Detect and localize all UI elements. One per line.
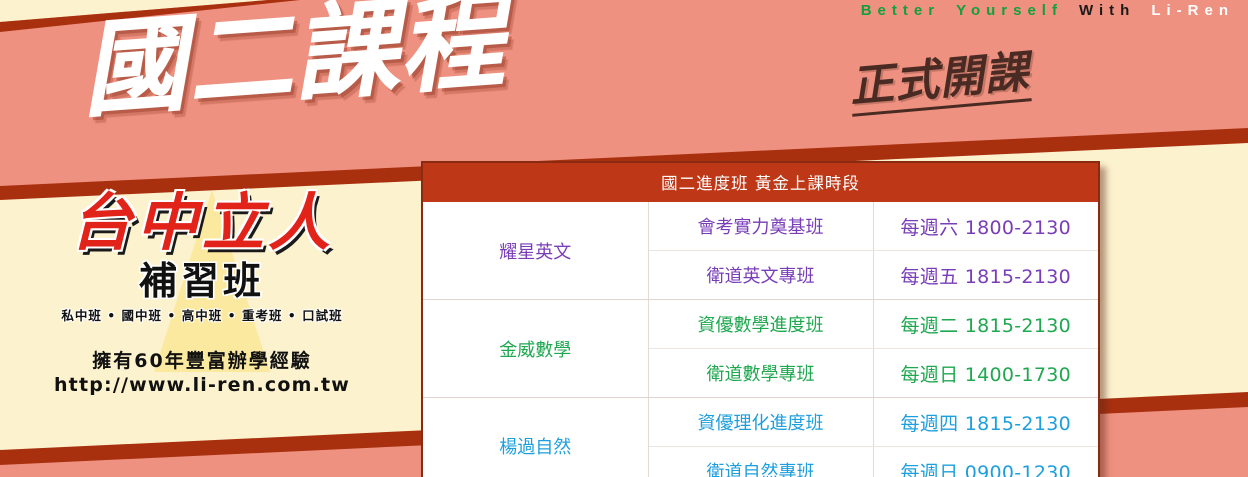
course-name-cell: 會考實力奠基班 xyxy=(648,202,873,251)
schedule-header-row: 國二進度班 黃金上課時段 xyxy=(423,163,1098,202)
table-row: 耀星英文會考實力奠基班每週六 1800-2130 xyxy=(423,202,1098,251)
class-time-cell: 每週日 0900-1230 xyxy=(873,447,1098,477)
logo-website-url[interactable]: http://www.li-ren.com.tw xyxy=(22,374,382,396)
table-row: 金威數學資優數學進度班每週二 1815-2130 xyxy=(423,300,1098,349)
subject-cell: 耀星英文 xyxy=(423,202,648,300)
subject-cell: 楊過自然 xyxy=(423,398,648,477)
schedule-header-title: 國二進度班 黃金上課時段 xyxy=(423,163,1098,202)
course-name-cell: 資優理化進度班 xyxy=(648,398,873,447)
course-name-cell: 資優數學進度班 xyxy=(648,300,873,349)
class-time-cell: 每週日 1400-1730 xyxy=(873,349,1098,398)
class-time-cell: 每週四 1815-2130 xyxy=(873,398,1098,447)
schedule-table: 國二進度班 黃金上課時段 耀星英文會考實力奠基班每週六 1800-2130衛道英… xyxy=(423,163,1098,477)
course-name-cell: 衛道英文專班 xyxy=(648,251,873,300)
course-name-cell: 衛道數學專班 xyxy=(648,349,873,398)
table-row: 楊過自然資優理化進度班每週四 1815-2130 xyxy=(423,398,1098,447)
subject-cell: 金威數學 xyxy=(423,300,648,398)
subheadline-block: 正式開課 xyxy=(848,50,1032,116)
slogan-word-3: With xyxy=(1079,2,1135,19)
class-time-cell: 每週二 1815-2130 xyxy=(873,300,1098,349)
logo-course-list: 私中班 • 國中班 • 高中班 • 重考班 • 口試班 xyxy=(22,305,382,324)
class-time-cell: 每週六 1800-2130 xyxy=(873,202,1098,251)
course-name-cell: 衛道自然專班 xyxy=(648,447,873,477)
schedule-table-container: 國二進度班 黃金上課時段 耀星英文會考實力奠基班每週六 1800-2130衛道英… xyxy=(421,161,1100,477)
slogan-word-1: Better xyxy=(861,2,940,19)
page-subtitle: 正式開課 xyxy=(848,50,1032,116)
promo-banner: BetterYourselfWithLi-Ren 國二課程 正式開課 台中立人 … xyxy=(0,0,1248,477)
slogan-word-2: Yourself xyxy=(956,2,1063,19)
logo-block: 台中立人 補習班 私中班 • 國中班 • 高中班 • 重考班 • 口試班 擁有6… xyxy=(22,186,382,396)
slogan-word-4: Li-Ren xyxy=(1151,2,1234,19)
class-time-cell: 每週五 1815-2130 xyxy=(873,251,1098,300)
logo-experience-text: 擁有60年豐富辦學經驗 xyxy=(22,346,382,373)
logo-type-name: 補習班 xyxy=(22,262,382,300)
schedule-body: 耀星英文會考實力奠基班每週六 1800-2130衛道英文專班每週五 1815-2… xyxy=(423,202,1098,477)
slogan-strip: BetterYourselfWithLi-Ren xyxy=(0,2,1248,19)
logo-brand-name: 台中立人 xyxy=(22,192,382,254)
